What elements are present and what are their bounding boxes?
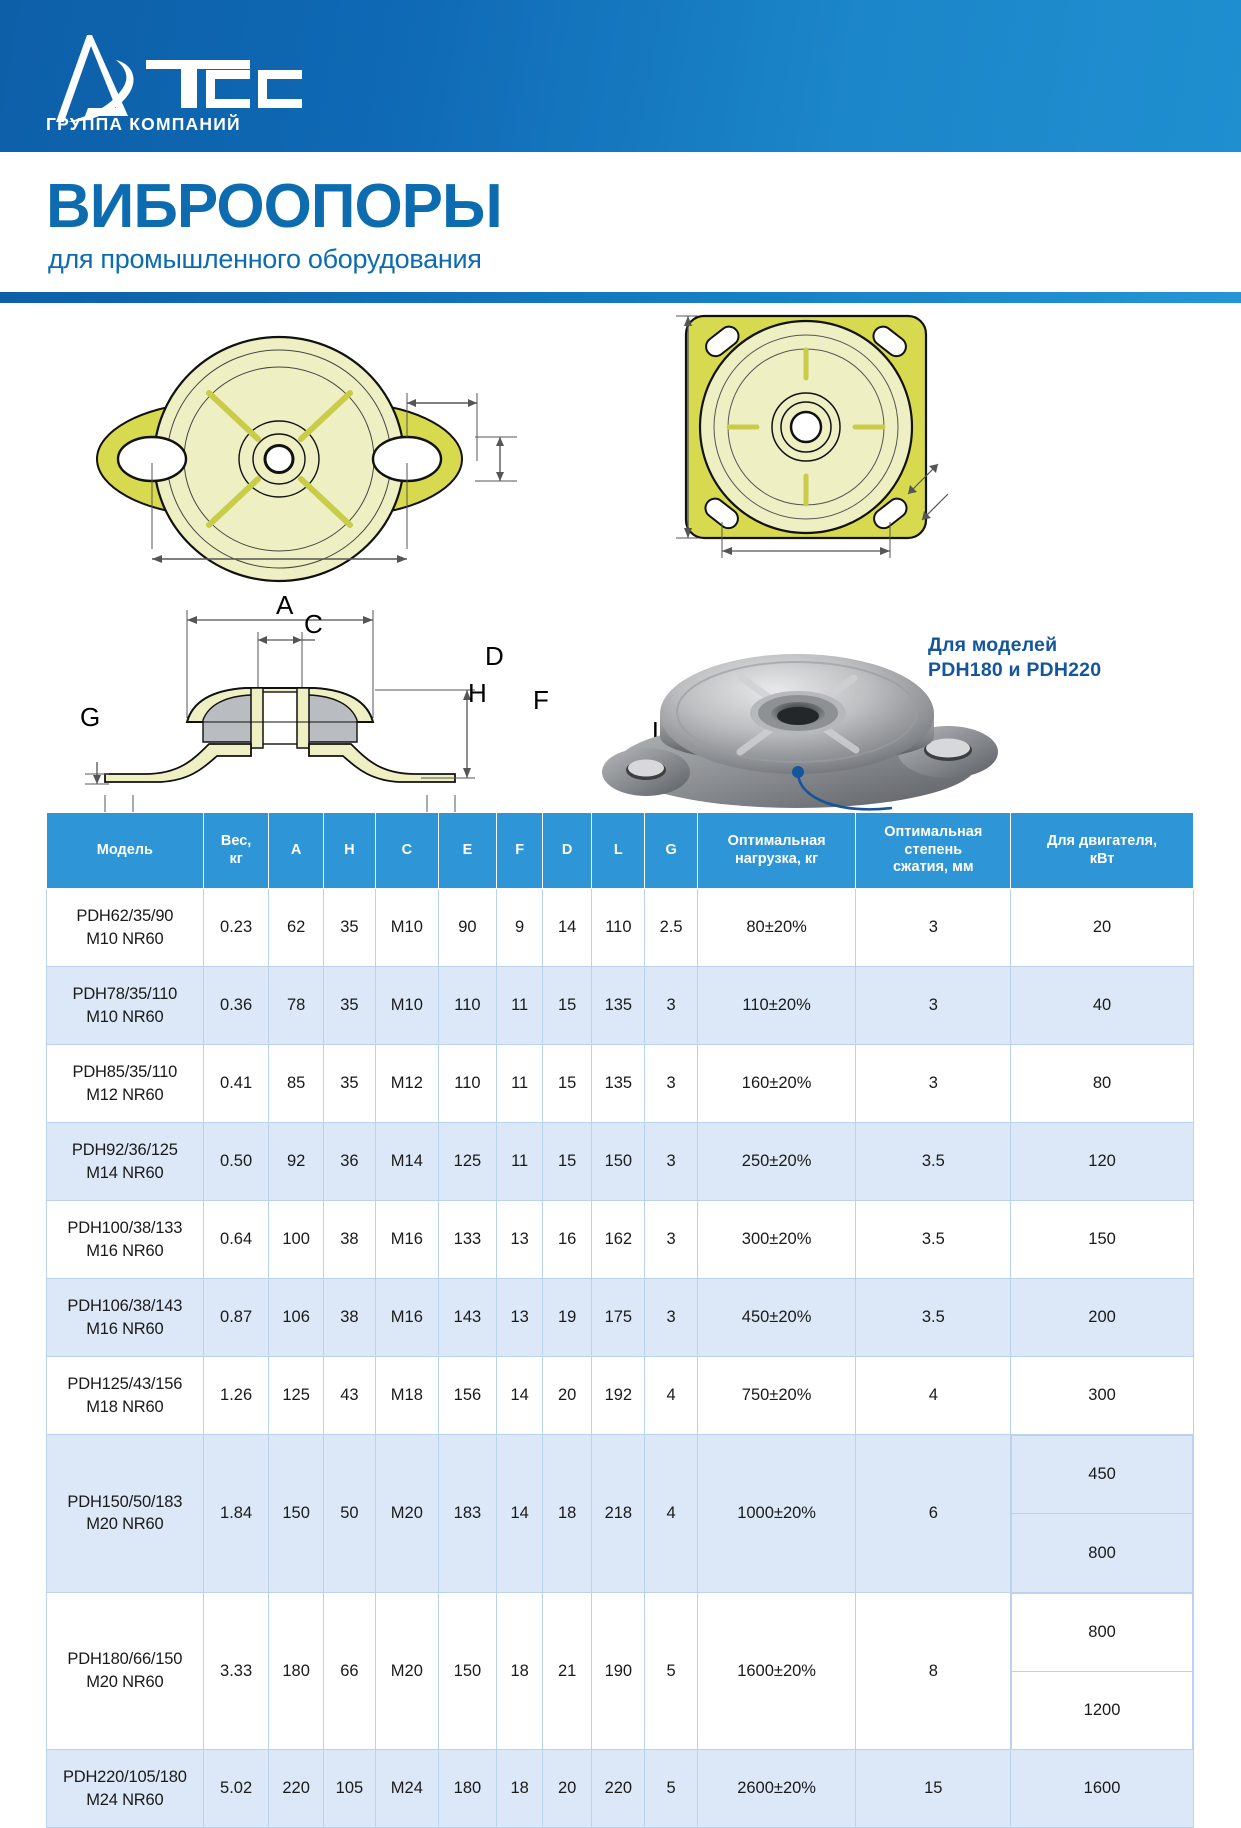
cell-dim-e: 143 (438, 1279, 496, 1357)
table-row: PDH220/105/180M24 NR605.02220105M2418018… (47, 1750, 1194, 1828)
table-row: PDH78/35/110M10 NR600.367835M10110111513… (47, 967, 1194, 1045)
cell-dim-c: M16 (376, 1279, 439, 1357)
cell-dim-l: 150 (592, 1123, 645, 1201)
cell-dim-g: 3 (645, 1279, 697, 1357)
cell-engine-power: 40 (1011, 967, 1194, 1045)
table-row: PDH100/38/133M16 NR600.6410038M161331316… (47, 1201, 1194, 1279)
cell-dim-e: 133 (438, 1201, 496, 1279)
cell-model: PDH125/43/156M18 NR60 (47, 1357, 204, 1435)
cell-dim-g: 4 (645, 1357, 697, 1435)
col-header-d: D (543, 813, 592, 889)
cell-engine-power-value: 800 (1012, 1514, 1193, 1592)
cell-optimal-compression: 8 (856, 1592, 1011, 1750)
model-line1: PDH92/36/125 (48, 1139, 202, 1161)
cell-dim-h: 43 (323, 1357, 375, 1435)
cell-dim-d: 20 (543, 1357, 592, 1435)
engine-power-split: 8001200 (1011, 1593, 1193, 1750)
cell-optimal-load: 300±20% (697, 1201, 856, 1279)
table-row: PDH180/66/150M20 NR603.3318066M201501821… (47, 1592, 1194, 1750)
dim-label-H-section: H (468, 678, 487, 709)
model-line1: PDH106/38/143 (48, 1295, 202, 1317)
cell-dim-e: 150 (438, 1592, 496, 1750)
cell-dim-l: 162 (592, 1201, 645, 1279)
cell-dim-f: 11 (497, 1045, 543, 1123)
cell-dim-c: M14 (376, 1123, 439, 1201)
cell-dim-a: 78 (269, 967, 323, 1045)
cell-dim-a: 85 (269, 1045, 323, 1123)
col-header-load: Оптимальная нагрузка, кг (697, 813, 856, 889)
cell-dim-c: M18 (376, 1357, 439, 1435)
col-header-power-line2: кВт (1013, 851, 1191, 868)
cell-dim-h: 36 (323, 1123, 375, 1201)
cell-optimal-compression: 3 (856, 1045, 1011, 1123)
cell-dim-c: M12 (376, 1045, 439, 1123)
cell-dim-f: 18 (497, 1592, 543, 1750)
cell-optimal-load: 1000±20% (697, 1435, 856, 1593)
model-line2: M18 NR60 (48, 1396, 202, 1418)
cell-dim-h: 35 (323, 889, 375, 967)
cell-dim-f: 14 (497, 1357, 543, 1435)
cell-optimal-load: 160±20% (697, 1045, 856, 1123)
cell-dim-e: 110 (438, 1045, 496, 1123)
cell-dim-f: 18 (497, 1750, 543, 1828)
cell-dim-c: M20 (376, 1435, 439, 1593)
cell-engine-power: 120 (1011, 1123, 1194, 1201)
col-header-h: H (323, 813, 375, 889)
diagram-area: D F E (0, 303, 1241, 803)
cell-engine-power: 200 (1011, 1279, 1194, 1357)
cell-dim-g: 5 (645, 1592, 697, 1750)
col-header-load-line2: нагрузка, кг (700, 851, 854, 868)
page-header-bar: ГРУППА КОМПАНИЙ (0, 0, 1241, 152)
cell-weight: 0.87 (203, 1279, 269, 1357)
cell-dim-h: 38 (323, 1201, 375, 1279)
cell-dim-c: M10 (376, 889, 439, 967)
cell-model: PDH220/105/180M24 NR60 (47, 1750, 204, 1828)
cell-dim-d: 18 (543, 1435, 592, 1593)
model-line2: M10 NR60 (48, 1006, 202, 1028)
col-header-compression-line3: сжатия, мм (858, 859, 1008, 876)
cell-weight: 3.33 (203, 1592, 269, 1750)
spec-table-body: PDH62/35/90M10 NR600.236235M10909141102.… (47, 889, 1194, 1828)
model-line2: M12 NR60 (48, 1084, 202, 1106)
cell-dim-g: 3 (645, 1123, 697, 1201)
cell-dim-a: 106 (269, 1279, 323, 1357)
model-line2: M16 NR60 (48, 1318, 202, 1340)
cell-optimal-compression: 3 (856, 889, 1011, 967)
dim-label-A-section: A (276, 590, 293, 621)
cell-optimal-compression: 15 (856, 1750, 1011, 1828)
company-logo: ГРУППА КОМПАНИЙ (46, 30, 316, 135)
cell-dim-d: 16 (543, 1201, 592, 1279)
cell-dim-h: 50 (323, 1435, 375, 1593)
table-row: PDH92/36/125M14 NR600.509236M14125111515… (47, 1123, 1194, 1201)
cell-dim-f: 13 (497, 1279, 543, 1357)
cell-model: PDH150/50/183M20 NR60 (47, 1435, 204, 1593)
table-row: PDH62/35/90M10 NR600.236235M10909141102.… (47, 889, 1194, 967)
cell-dim-h: 35 (323, 967, 375, 1045)
cell-dim-c: M24 (376, 1750, 439, 1828)
cell-dim-l: 135 (592, 1045, 645, 1123)
cell-weight: 0.23 (203, 889, 269, 967)
cell-dim-e: 90 (438, 889, 496, 967)
divider-rule (0, 292, 1241, 303)
model-line1: PDH100/38/133 (48, 1217, 202, 1239)
cell-engine-power: 1600 (1011, 1750, 1194, 1828)
model-line2: M14 NR60 (48, 1162, 202, 1184)
col-header-power: Для двигателя, кВт (1011, 813, 1194, 889)
cell-dim-l: 175 (592, 1279, 645, 1357)
cell-optimal-compression: 3.5 (856, 1123, 1011, 1201)
model-line2: M10 NR60 (48, 928, 202, 950)
model-line2: M16 NR60 (48, 1240, 202, 1262)
cell-engine-power: 8001200 (1011, 1592, 1194, 1750)
cell-dim-c: M20 (376, 1592, 439, 1750)
cell-dim-h: 35 (323, 1045, 375, 1123)
cell-engine-power: 450800 (1011, 1435, 1194, 1593)
logo-subtitle: ГРУППА КОМПАНИЙ (46, 114, 241, 135)
page-subtitle: для промышленного оборудования (48, 246, 482, 273)
cell-weight: 1.26 (203, 1357, 269, 1435)
engine-power-split: 450800 (1011, 1435, 1193, 1592)
model-line2: M20 NR60 (48, 1513, 202, 1535)
dim-label-F-oval: F (533, 685, 549, 716)
cell-optimal-load: 250±20% (697, 1123, 856, 1201)
dim-label-G-section: G (80, 702, 100, 733)
cell-dim-a: 100 (269, 1201, 323, 1279)
cell-optimal-compression: 6 (856, 1435, 1011, 1593)
cell-weight: 0.50 (203, 1123, 269, 1201)
cell-dim-e: 183 (438, 1435, 496, 1593)
col-header-c: C (376, 813, 439, 889)
cell-dim-c: M10 (376, 967, 439, 1045)
cell-dim-c: M16 (376, 1201, 439, 1279)
cell-weight: 0.41 (203, 1045, 269, 1123)
col-header-weight-line1: Вес, (206, 833, 267, 850)
cell-optimal-load: 450±20% (697, 1279, 856, 1357)
cell-model: PDH62/35/90M10 NR60 (47, 889, 204, 967)
oval-two-bolt-top-view-svg (62, 311, 582, 601)
cell-dim-g: 3 (645, 1201, 697, 1279)
cell-dim-f: 14 (497, 1435, 543, 1593)
cell-optimal-load: 110±20% (697, 967, 856, 1045)
cell-dim-e: 156 (438, 1357, 496, 1435)
model-line2: M20 NR60 (48, 1671, 202, 1693)
cell-engine-power-value: 1200 (1012, 1671, 1193, 1749)
cell-dim-l: 135 (592, 967, 645, 1045)
cell-dim-d: 15 (543, 967, 592, 1045)
cell-model: PDH100/38/133M16 NR60 (47, 1201, 204, 1279)
square-four-bolt-top-view-svg (676, 308, 966, 558)
col-header-weight: Вес, кг (203, 813, 269, 889)
col-header-weight-line2: кг (206, 851, 267, 868)
title-block: ВИБРООПОРЫ для промышленного оборудовани… (0, 152, 1241, 292)
cell-engine-power-value: 800 (1012, 1593, 1193, 1671)
table-row: PDH150/50/183M20 NR601.8415050M201831418… (47, 1435, 1194, 1593)
table-row: PDH106/38/143M16 NR600.8710638M161431319… (47, 1279, 1194, 1357)
col-header-compression: Оптимальная степень сжатия, мм (856, 813, 1011, 889)
cell-dim-a: 220 (269, 1750, 323, 1828)
cell-dim-g: 3 (645, 967, 697, 1045)
col-header-compression-line1: Оптимальная (858, 824, 1008, 841)
model-line1: PDH85/35/110 (48, 1061, 202, 1083)
cell-model: PDH78/35/110M10 NR60 (47, 967, 204, 1045)
cell-dim-h: 105 (323, 1750, 375, 1828)
cell-engine-power: 80 (1011, 1045, 1194, 1123)
cell-dim-f: 11 (497, 967, 543, 1045)
model-line1: PDH150/50/183 (48, 1491, 202, 1513)
cell-model: PDH180/66/150M20 NR60 (47, 1592, 204, 1750)
product-photo (592, 586, 1012, 811)
cell-dim-e: 125 (438, 1123, 496, 1201)
cell-optimal-load: 750±20% (697, 1357, 856, 1435)
cell-dim-l: 190 (592, 1592, 645, 1750)
model-line2: M24 NR60 (48, 1789, 202, 1811)
cell-dim-a: 62 (269, 889, 323, 967)
cell-dim-g: 4 (645, 1435, 697, 1593)
table-row: PDH125/43/156M18 NR601.2612543M181561420… (47, 1357, 1194, 1435)
cell-dim-g: 3 (645, 1045, 697, 1123)
cell-optimal-compression: 3.5 (856, 1279, 1011, 1357)
cell-weight: 5.02 (203, 1750, 269, 1828)
table-header-row: Модель Вес, кг A H C E F D L G Оптимальн… (47, 813, 1194, 889)
cell-dim-g: 2.5 (645, 889, 697, 967)
cell-optimal-load: 80±20% (697, 889, 856, 967)
spec-table: Модель Вес, кг A H C E F D L G Оптимальн… (46, 812, 1194, 1828)
cell-optimal-load: 1600±20% (697, 1592, 856, 1750)
cell-dim-l: 218 (592, 1435, 645, 1593)
page-title: ВИБРООПОРЫ (46, 176, 502, 238)
cell-dim-f: 9 (497, 889, 543, 967)
cell-dim-e: 180 (438, 1750, 496, 1828)
cell-weight: 1.84 (203, 1435, 269, 1593)
cell-dim-d: 21 (543, 1592, 592, 1750)
dim-label-C-section: C (304, 609, 323, 640)
cell-dim-l: 220 (592, 1750, 645, 1828)
col-header-g: G (645, 813, 697, 889)
cell-model: PDH85/35/110M12 NR60 (47, 1045, 204, 1123)
cell-dim-g: 5 (645, 1750, 697, 1828)
cell-model: PDH92/36/125M14 NR60 (47, 1123, 204, 1201)
spec-table-container: Модель Вес, кг A H C E F D L G Оптимальн… (46, 812, 1194, 1828)
cell-dim-d: 19 (543, 1279, 592, 1357)
cell-model: PDH106/38/143M16 NR60 (47, 1279, 204, 1357)
cell-dim-h: 38 (323, 1279, 375, 1357)
col-header-e: E (438, 813, 496, 889)
cell-dim-l: 110 (592, 889, 645, 967)
cell-weight: 0.36 (203, 967, 269, 1045)
cell-dim-a: 180 (269, 1592, 323, 1750)
model-line1: PDH125/43/156 (48, 1373, 202, 1395)
model-line1: PDH62/35/90 (48, 905, 202, 927)
cell-optimal-compression: 3.5 (856, 1201, 1011, 1279)
col-header-load-line1: Оптимальная (700, 833, 854, 850)
cell-dim-d: 15 (543, 1123, 592, 1201)
model-line1: PDH78/35/110 (48, 983, 202, 1005)
cell-dim-d: 15 (543, 1045, 592, 1123)
col-header-power-line1: Для двигателя, (1013, 833, 1191, 850)
cell-engine-power: 20 (1011, 889, 1194, 967)
cell-dim-f: 11 (497, 1123, 543, 1201)
cell-weight: 0.64 (203, 1201, 269, 1279)
cell-dim-f: 13 (497, 1201, 543, 1279)
cell-engine-power-value: 450 (1012, 1436, 1193, 1514)
cell-dim-e: 110 (438, 967, 496, 1045)
cell-dim-a: 125 (269, 1357, 323, 1435)
cell-dim-a: 150 (269, 1435, 323, 1593)
model-line1: PDH180/66/150 (48, 1648, 202, 1670)
cell-optimal-compression: 4 (856, 1357, 1011, 1435)
cell-dim-a: 92 (269, 1123, 323, 1201)
model-line1: PDH220/105/180 (48, 1766, 202, 1788)
col-header-l: L (592, 813, 645, 889)
col-header-model: Модель (47, 813, 204, 889)
col-header-a: A (269, 813, 323, 889)
cell-engine-power: 300 (1011, 1357, 1194, 1435)
cell-optimal-load: 2600±20% (697, 1750, 856, 1828)
cell-engine-power: 150 (1011, 1201, 1194, 1279)
col-header-compression-line2: степень (858, 842, 1008, 859)
cell-dim-h: 66 (323, 1592, 375, 1750)
col-header-f: F (497, 813, 543, 889)
cell-dim-d: 20 (543, 1750, 592, 1828)
table-row: PDH85/35/110M12 NR600.418535M12110111513… (47, 1045, 1194, 1123)
cell-dim-l: 192 (592, 1357, 645, 1435)
cell-optimal-compression: 3 (856, 967, 1011, 1045)
cell-dim-d: 14 (543, 889, 592, 967)
